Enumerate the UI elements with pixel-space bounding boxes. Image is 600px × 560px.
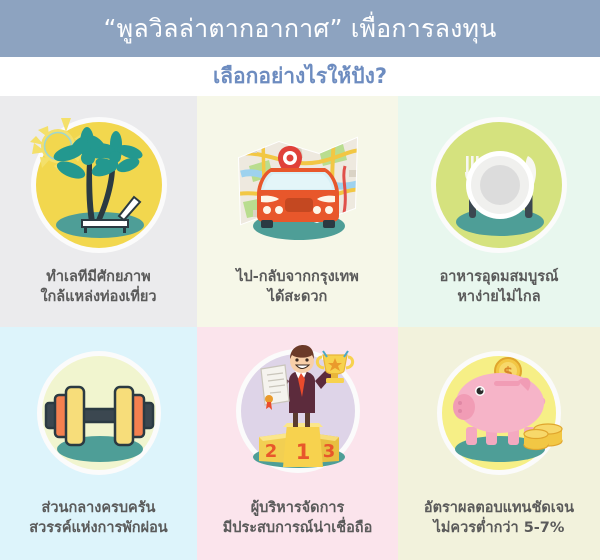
caption-line-1: ทำเลทีมีศักยภาพ	[46, 269, 150, 285]
feature-caption-facilities: ส่วนกลางครบครัน สวรรค์แห่งการพักผ่อน	[25, 499, 171, 538]
feature-caption-food: อาหารอุดมสมบูรณ์ หาง่ายไม่ไกล	[436, 268, 563, 307]
feature-cell-facilities[interactable]: ส่วนกลางครบครัน สวรรค์แห่งการพักผ่อน	[0, 327, 197, 560]
caption-line-1: อัตราผลตอบแทนชัดเจน	[424, 500, 574, 516]
feature-cell-travel[interactable]: ไป-กลับจากกรุงเทพ ได้สะดวก	[197, 96, 398, 327]
car-map-icon	[223, 110, 373, 260]
caption-line-2: ไม่ควรต่ำกว่า 5-7%	[424, 519, 574, 539]
dumbbell-icon	[24, 341, 174, 491]
caption-line-2: หาง่ายไม่ไกล	[440, 288, 559, 308]
feature-caption-travel: ไป-กลับจากกรุงเทพ ได้สะดวก	[232, 268, 363, 307]
caption-line-2: สวรรค์แห่งการพักผ่อน	[29, 519, 167, 539]
header-band: “พูลวิลล่าตากอากาศ” เพื่อการลงทุน	[0, 0, 600, 57]
caption-line-1: ผู้บริหารจัดการ	[251, 500, 345, 516]
caption-line-1: อาหารอุดมสมบูรณ์	[440, 269, 559, 285]
podium-rank-1: 1	[295, 440, 310, 464]
feature-cell-yield[interactable]: $	[398, 327, 600, 560]
feature-grid: ทำเลทีมีศักยภาพ ใกล้แหล่งท่องเที่ยว	[0, 96, 600, 560]
feature-caption-location: ทำเลทีมีศักยภาพ ใกล้แหล่งท่องเที่ยว	[36, 268, 160, 307]
feature-caption-management: ผู้บริหารจัดการ มีประสบการณ์น่าเชื่อถือ	[219, 499, 377, 538]
podium-rank-2: 2	[264, 441, 277, 462]
businessman-trophy-podium-icon: 2 1 3	[223, 341, 373, 491]
feature-caption-yield: อัตราผลตอบแทนชัดเจน ไม่ควรต่ำกว่า 5-7%	[420, 499, 578, 538]
page-subtitle: เลือกอย่างไรให้ปัง?	[213, 66, 387, 87]
palm-tree-beach-icon	[24, 110, 174, 260]
feature-cell-management[interactable]: 2 1 3	[197, 327, 398, 560]
feature-cell-location[interactable]: ทำเลทีมีศักยภาพ ใกล้แหล่งท่องเที่ยว	[0, 96, 197, 327]
caption-line-2: ใกล้แหล่งท่องเที่ยว	[40, 288, 156, 308]
piggy-bank-coins-icon: $	[424, 341, 574, 491]
caption-line-2: ได้สะดวก	[236, 288, 359, 308]
caption-line-1: ไป-กลับจากกรุงเทพ	[236, 269, 359, 285]
caption-line-2: มีประสบการณ์น่าเชื่อถือ	[223, 519, 373, 539]
subheader-band: เลือกอย่างไรให้ปัง?	[0, 57, 600, 96]
infographic-page: “พูลวิลล่าตากอากาศ” เพื่อการลงทุน เลือกอ…	[0, 0, 600, 560]
podium-rank-3: 3	[322, 441, 335, 462]
plate-cutlery-icon	[424, 110, 574, 260]
feature-cell-food[interactable]: อาหารอุดมสมบูรณ์ หาง่ายไม่ไกล	[398, 96, 600, 327]
caption-line-1: ส่วนกลางครบครัน	[42, 500, 156, 516]
page-title: “พูลวิลล่าตากอากาศ” เพื่อการลงทุน	[103, 16, 496, 41]
